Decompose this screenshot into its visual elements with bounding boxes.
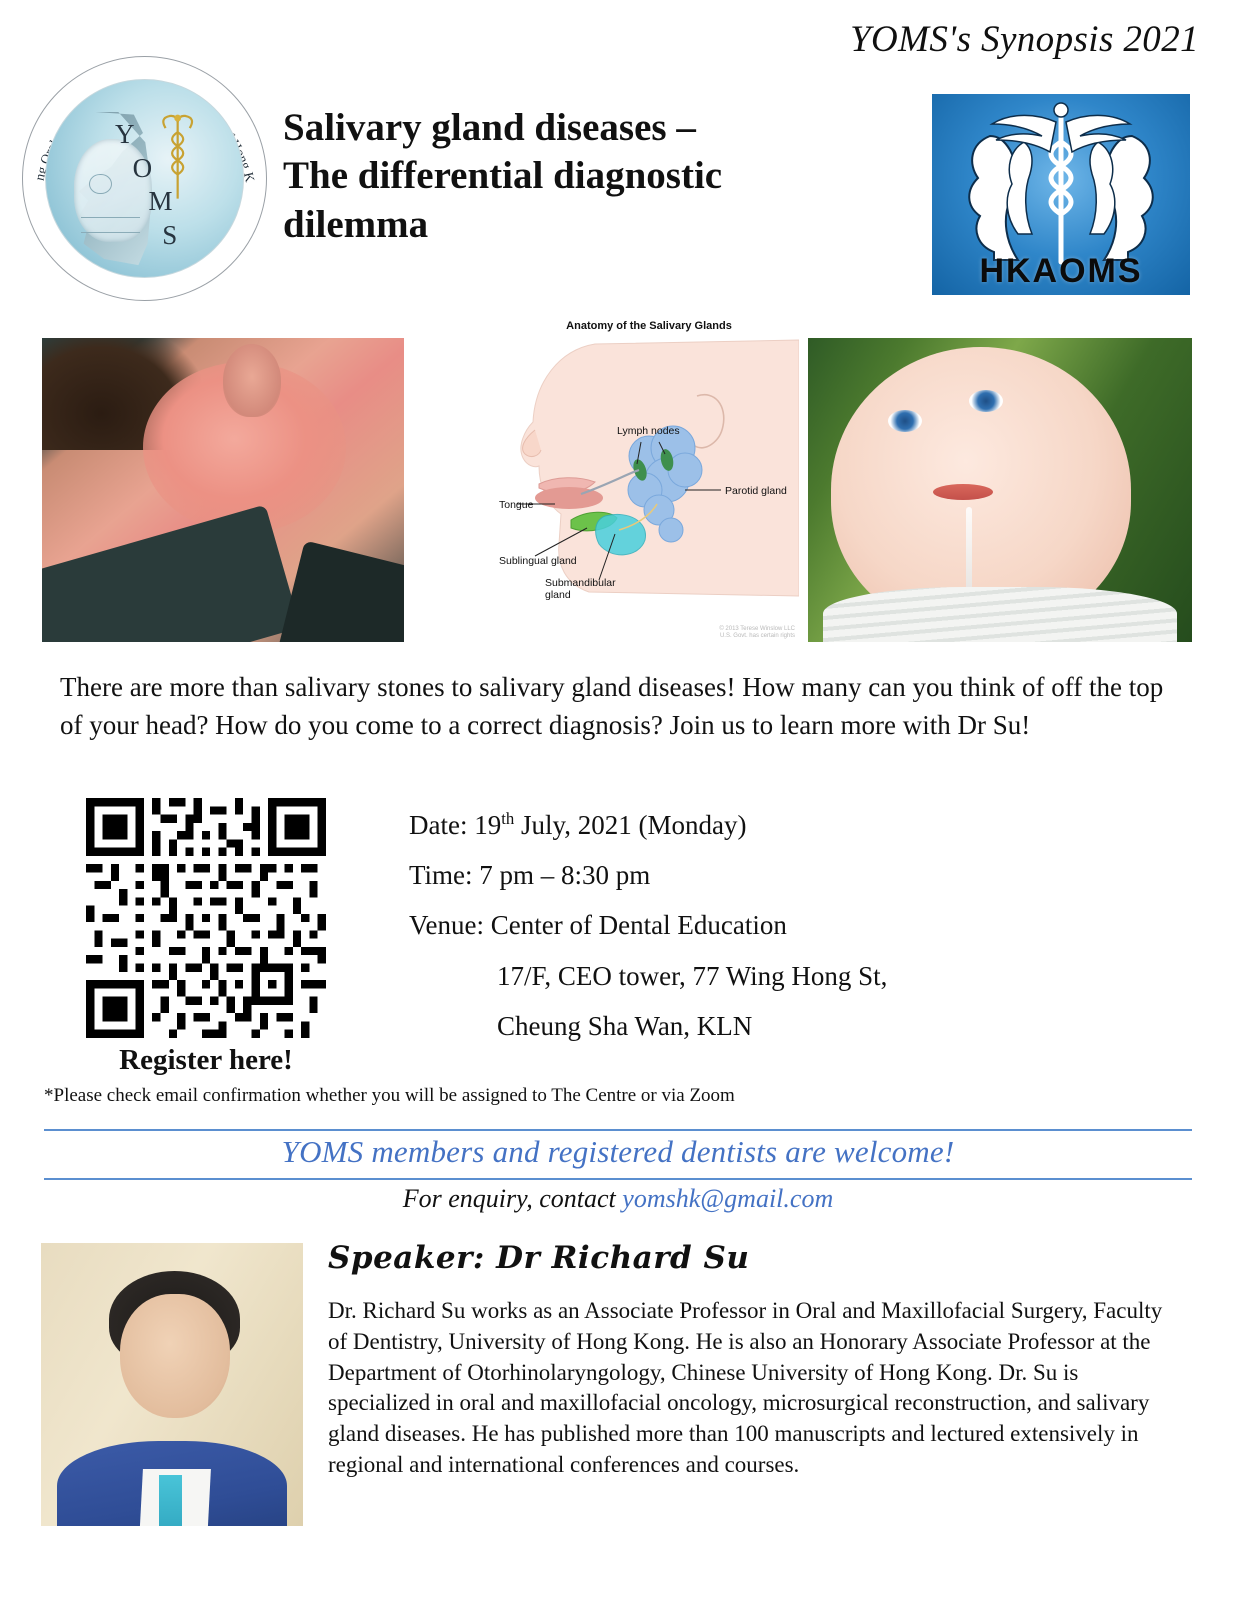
- enquiry-email[interactable]: yomshk@gmail.com: [622, 1184, 833, 1213]
- yoms-letter-s: S: [162, 220, 177, 251]
- anatomy-credit: © 2013 Terese Winslow LLC U.S. Govt. has…: [719, 626, 795, 640]
- intro-paragraph: There are more than salivary stones to s…: [60, 668, 1175, 745]
- title-line-2: The differential diagnostic: [283, 152, 903, 200]
- clinical-ear: [223, 344, 281, 417]
- speaker-photo: [41, 1243, 303, 1526]
- hkaoms-logo: HKAOMS: [932, 94, 1190, 295]
- registration-block[interactable]: Register here!: [86, 798, 326, 1077]
- speaker-bio: Dr. Richard Su works as an Associate Pro…: [328, 1296, 1168, 1481]
- infant-eye-left: [888, 410, 922, 432]
- speaker-face: [120, 1294, 230, 1419]
- hkaoms-label: HKAOMS: [932, 252, 1190, 291]
- anatomy-label-parotid: Parotid gland: [725, 485, 787, 497]
- clinical-photo-parotid-swelling: [42, 338, 404, 642]
- yoms-letter-y: Y: [115, 119, 135, 150]
- registration-footnote: *Please check email confirmation whether…: [44, 1085, 1044, 1107]
- event-details: Date: 19th July, 2021 (Monday) Time: 7 p…: [409, 800, 1069, 1051]
- anatomy-credit-line-1: © 2013 Terese Winslow LLC: [719, 626, 795, 633]
- image-strip: Anatomy of the Salivary Glands: [0, 338, 1235, 644]
- event-address-line-1: 17/F, CEO tower, 77 Wing Hong St,: [409, 951, 1069, 1001]
- banner-rule-bottom: [44, 1178, 1192, 1180]
- infant-drool-stream: [966, 507, 972, 599]
- event-date-day: 19: [474, 810, 501, 840]
- speaker-tie: [159, 1475, 183, 1526]
- page-title: Salivary gland diseases – The differenti…: [283, 104, 903, 249]
- anatomy-label-tongue: Tongue: [499, 499, 534, 511]
- event-date-rest: July, 2021 (Monday): [514, 810, 746, 840]
- infant-eye-right: [969, 390, 1003, 412]
- anatomy-diagram-title: Anatomy of the Salivary Glands: [499, 320, 799, 332]
- anatomy-diagram: Anatomy of the Salivary Glands: [499, 320, 799, 642]
- event-date-ordinal: th: [501, 809, 514, 828]
- event-date-row: Date: 19th July, 2021 (Monday): [409, 800, 1069, 850]
- anatomy-credit-line-2: U.S. Govt. has certain rights: [719, 633, 795, 640]
- synopsis-header: YOMS's Synopsis 2021: [850, 18, 1199, 61]
- yoms-letter-m: M: [148, 186, 172, 217]
- event-date-label: Date:: [409, 810, 467, 840]
- welcome-banner: YOMS members and registered dentists are…: [44, 1134, 1192, 1170]
- anatomy-illustration: Lymph nodes Parotid gland Tongue Subling…: [499, 334, 799, 634]
- registration-qr-code[interactable]: [86, 798, 326, 1038]
- title-line-3: dilemma: [283, 201, 903, 249]
- anatomy-label-lymph-nodes: Lymph nodes: [617, 425, 680, 437]
- anatomy-label-submandibular-1: Submandibular: [545, 577, 616, 589]
- banner-rule-top: [44, 1129, 1192, 1131]
- yoms-letter-o: O: [133, 153, 153, 184]
- clinical-collar: [42, 504, 301, 642]
- register-here-label: Register here!: [86, 1044, 326, 1077]
- event-venue-row: Venue: Center of Dental Education: [409, 900, 1069, 950]
- yoms-logo-disc: Y O M S: [45, 79, 244, 278]
- clinical-collar-right: [276, 540, 404, 642]
- enquiry-prefix: For enquiry, contact: [403, 1184, 623, 1213]
- infant-shirt: [823, 587, 1176, 642]
- infant-lips: [933, 484, 993, 500]
- anatomy-label-sublingual: Sublingual gland: [499, 555, 577, 567]
- speaker-heading: Speaker: Dr Richard Su: [328, 1240, 749, 1276]
- infant-drooling-photo: [808, 338, 1192, 642]
- event-address-line-2: Cheung Sha Wan, KLN: [409, 1001, 1069, 1051]
- anatomy-label-submandibular-2: gland: [545, 589, 571, 601]
- enquiry-line: For enquiry, contact yomshk@gmail.com: [44, 1184, 1192, 1214]
- event-time-row: Time: 7 pm – 8:30 pm: [409, 850, 1069, 900]
- yoms-logo: Young Oral and Maxillofacial Surgeon Gro…: [22, 56, 267, 301]
- title-line-1: Salivary gland diseases –: [283, 104, 903, 152]
